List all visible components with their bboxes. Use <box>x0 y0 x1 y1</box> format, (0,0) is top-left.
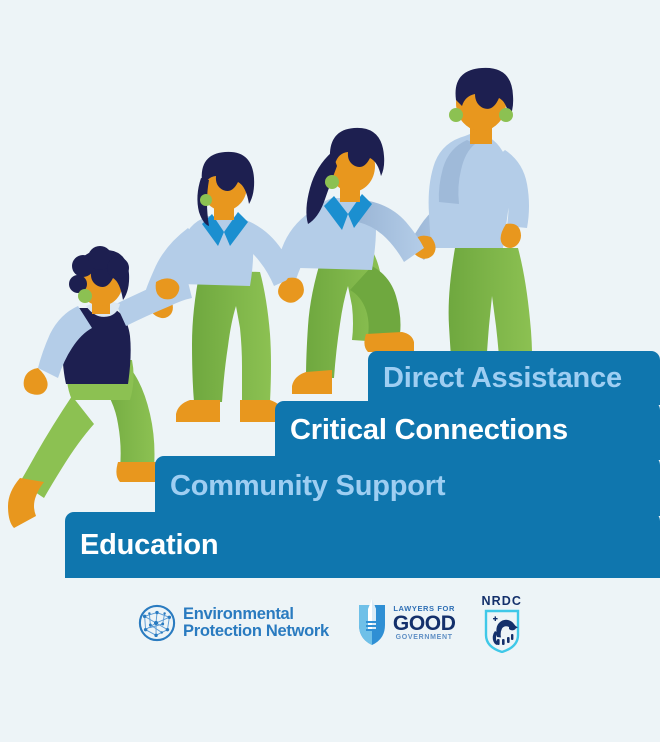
lfgg-line-government: GOVERNMENT <box>396 634 453 641</box>
step-education[interactable]: Education <box>65 512 660 578</box>
step-label-community-support: Community Support <box>170 472 445 501</box>
nrdc-wordmark: NRDC <box>481 594 522 608</box>
lfgg-wordmark: LAWYERS FOR GOOD GOVERNMENT <box>393 605 456 641</box>
logo-lawyers-for-good-government[interactable]: LAWYERS FOR GOOD GOVERNMENT <box>355 599 456 647</box>
nrdc-polar-bear-shield-icon <box>484 609 520 653</box>
epn-network-globe-icon <box>138 604 176 642</box>
step-direct-assistance[interactable]: Direct Assistance <box>368 351 660 405</box>
logo-nrdc[interactable]: NRDC <box>481 594 522 653</box>
step-label-direct-assistance: Direct Assistance <box>383 364 622 393</box>
lfgg-shield-pen-icon <box>355 599 389 647</box>
step-label-education: Education <box>80 531 218 560</box>
epn-wordmark: Environmental Protection Network <box>183 606 329 640</box>
epn-wordmark-line2: Protection Network <box>183 623 329 640</box>
step-critical-connections[interactable]: Critical Connections <box>275 401 660 460</box>
step-label-critical-connections: Critical Connections <box>290 416 568 445</box>
epn-wordmark-line1: Environmental <box>183 606 329 623</box>
poster-canvas: Direct Assistance Critical Connections C… <box>0 0 660 742</box>
lfgg-line-good: GOOD <box>393 613 456 634</box>
step-community-support[interactable]: Community Support <box>155 456 660 516</box>
logo-environmental-protection-network[interactable]: Environmental Protection Network <box>138 604 329 642</box>
partner-logo-bar: Environmental Protection Network LAWYERS… <box>0 588 660 658</box>
